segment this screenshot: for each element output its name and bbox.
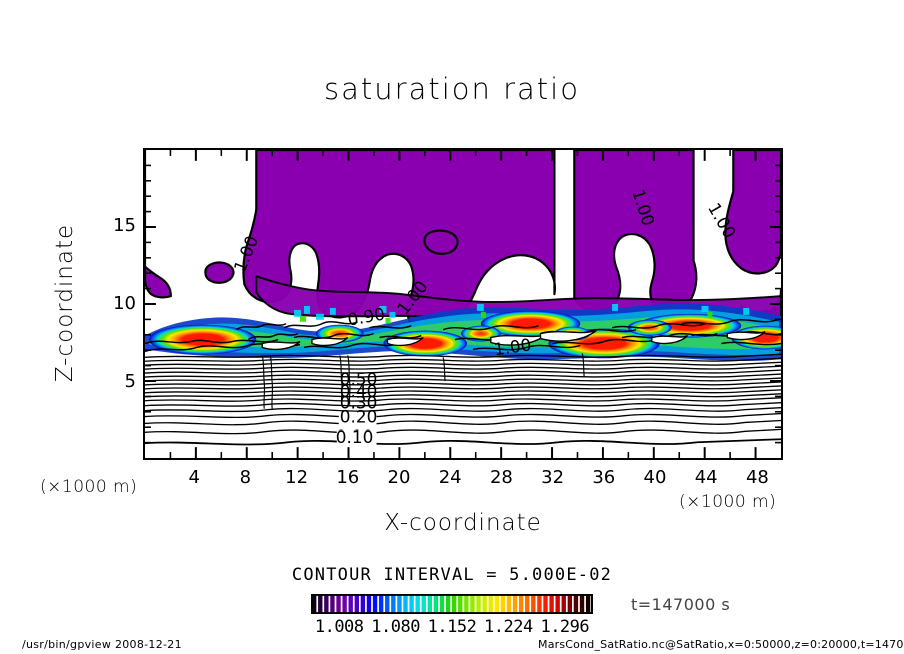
y-tick-label-15: 15 xyxy=(96,215,136,236)
y-tick-label-5: 5 xyxy=(96,371,136,392)
colorbar-band xyxy=(476,595,480,613)
y-axis-label: Z-coordinate xyxy=(52,198,78,408)
colorbar-band xyxy=(537,595,541,613)
colorbar-band xyxy=(324,595,328,613)
colorbar-band xyxy=(367,595,371,613)
colorbar-band xyxy=(482,595,486,613)
saturation-ratio-field: 1.00 1.00 1.00 1.00 1.00 0.90 0.50 0.40 … xyxy=(145,150,781,458)
colorbar-band xyxy=(580,595,584,613)
colorbar-band xyxy=(403,595,407,613)
colorbar-band xyxy=(470,595,474,613)
colorbar-band xyxy=(586,595,590,613)
colorbar-band xyxy=(349,595,353,613)
colorbar-band xyxy=(568,595,572,613)
x-tick-label-4: 4 xyxy=(174,467,214,488)
colorbar-band xyxy=(562,595,566,613)
plot-frame: 1.00 1.00 1.00 1.00 1.00 0.90 0.50 0.40 … xyxy=(143,148,783,460)
x-tick-label-32: 32 xyxy=(533,467,573,488)
x-tick-label-24: 24 xyxy=(430,467,470,488)
colorbar xyxy=(311,594,593,614)
x-tick-label-48: 48 xyxy=(737,467,777,488)
page-title: saturation ratio xyxy=(0,72,904,106)
colorbar-band xyxy=(513,595,517,613)
x-tick-label-16: 16 xyxy=(328,467,368,488)
x-axis-unit-left: (×1000 m) xyxy=(40,477,137,497)
colorbar-tick-1.296: 1.296 xyxy=(535,617,595,637)
colorbar-tick-1.008: 1.008 xyxy=(309,617,369,637)
x-tick-label-40: 40 xyxy=(635,467,675,488)
colorbar-band xyxy=(379,595,383,613)
colorbar-band xyxy=(422,595,426,613)
colorbar-band xyxy=(549,595,553,613)
colorbar-band xyxy=(489,595,493,613)
colorbar-band xyxy=(397,595,401,613)
colorbar-tick-1.152: 1.152 xyxy=(422,617,482,637)
colorbar-band xyxy=(555,595,559,613)
x-tick-label-36: 36 xyxy=(584,467,624,488)
colorbar-band xyxy=(415,595,419,613)
x-axis-label: X-coordinate xyxy=(243,510,683,536)
contour-label-0.10-top: 0.10 xyxy=(336,427,374,447)
colorbar-band xyxy=(543,595,547,613)
contour-interval-label: CONTOUR INTERVAL = 5.000E-02 xyxy=(0,565,904,585)
colorbar-band xyxy=(452,595,456,613)
colorbar-band xyxy=(409,595,413,613)
colorbar-band xyxy=(574,595,578,613)
contour-label-0.20-top: 0.20 xyxy=(340,407,378,427)
colorbar-band xyxy=(464,595,468,613)
colorbar-band xyxy=(355,595,359,613)
x-tick-label-12: 12 xyxy=(277,467,317,488)
colorbar-tick-labels: 1.0081.0801.1521.2241.296 xyxy=(295,617,609,637)
colorbar-tick-1.224: 1.224 xyxy=(478,617,538,637)
colorbar-band xyxy=(434,595,438,613)
colorbar-band xyxy=(385,595,389,613)
timestamp-label: t=147000 s xyxy=(631,595,730,614)
colorbar-tick-1.080: 1.080 xyxy=(366,617,426,637)
footer-right-text: MarsCond_SatRatio.nc@SatRatio,x=0:50000,… xyxy=(538,638,904,651)
x-axis-unit-right: (×1000 m) xyxy=(679,492,776,512)
x-tick-label-44: 44 xyxy=(686,467,726,488)
colorbar-band xyxy=(446,595,450,613)
colorbar-band xyxy=(440,595,444,613)
colorbar-band xyxy=(391,595,395,613)
x-tick-label-28: 28 xyxy=(481,467,521,488)
colorbar-band xyxy=(361,595,365,613)
footer-left-text: /usr/bin/gpview 2008-12-21 xyxy=(22,638,182,651)
colorbar-band xyxy=(330,595,334,613)
colorbar-band xyxy=(458,595,462,613)
y-tick-label-10: 10 xyxy=(96,293,136,314)
colorbar-band xyxy=(525,595,529,613)
colorbar-band xyxy=(501,595,505,613)
colorbar-band xyxy=(318,595,322,613)
colorbar-band xyxy=(428,595,432,613)
colorbar-band xyxy=(336,595,340,613)
x-tick-label-20: 20 xyxy=(379,467,419,488)
colorbar-band xyxy=(507,595,511,613)
colorbar-swatches xyxy=(311,594,593,614)
colorbar-band xyxy=(342,595,346,613)
colorbar-band xyxy=(373,595,377,613)
colorbar-band xyxy=(531,595,535,613)
x-tick-label-8: 8 xyxy=(225,467,265,488)
colorbar-band xyxy=(519,595,523,613)
colorbar-band xyxy=(495,595,499,613)
